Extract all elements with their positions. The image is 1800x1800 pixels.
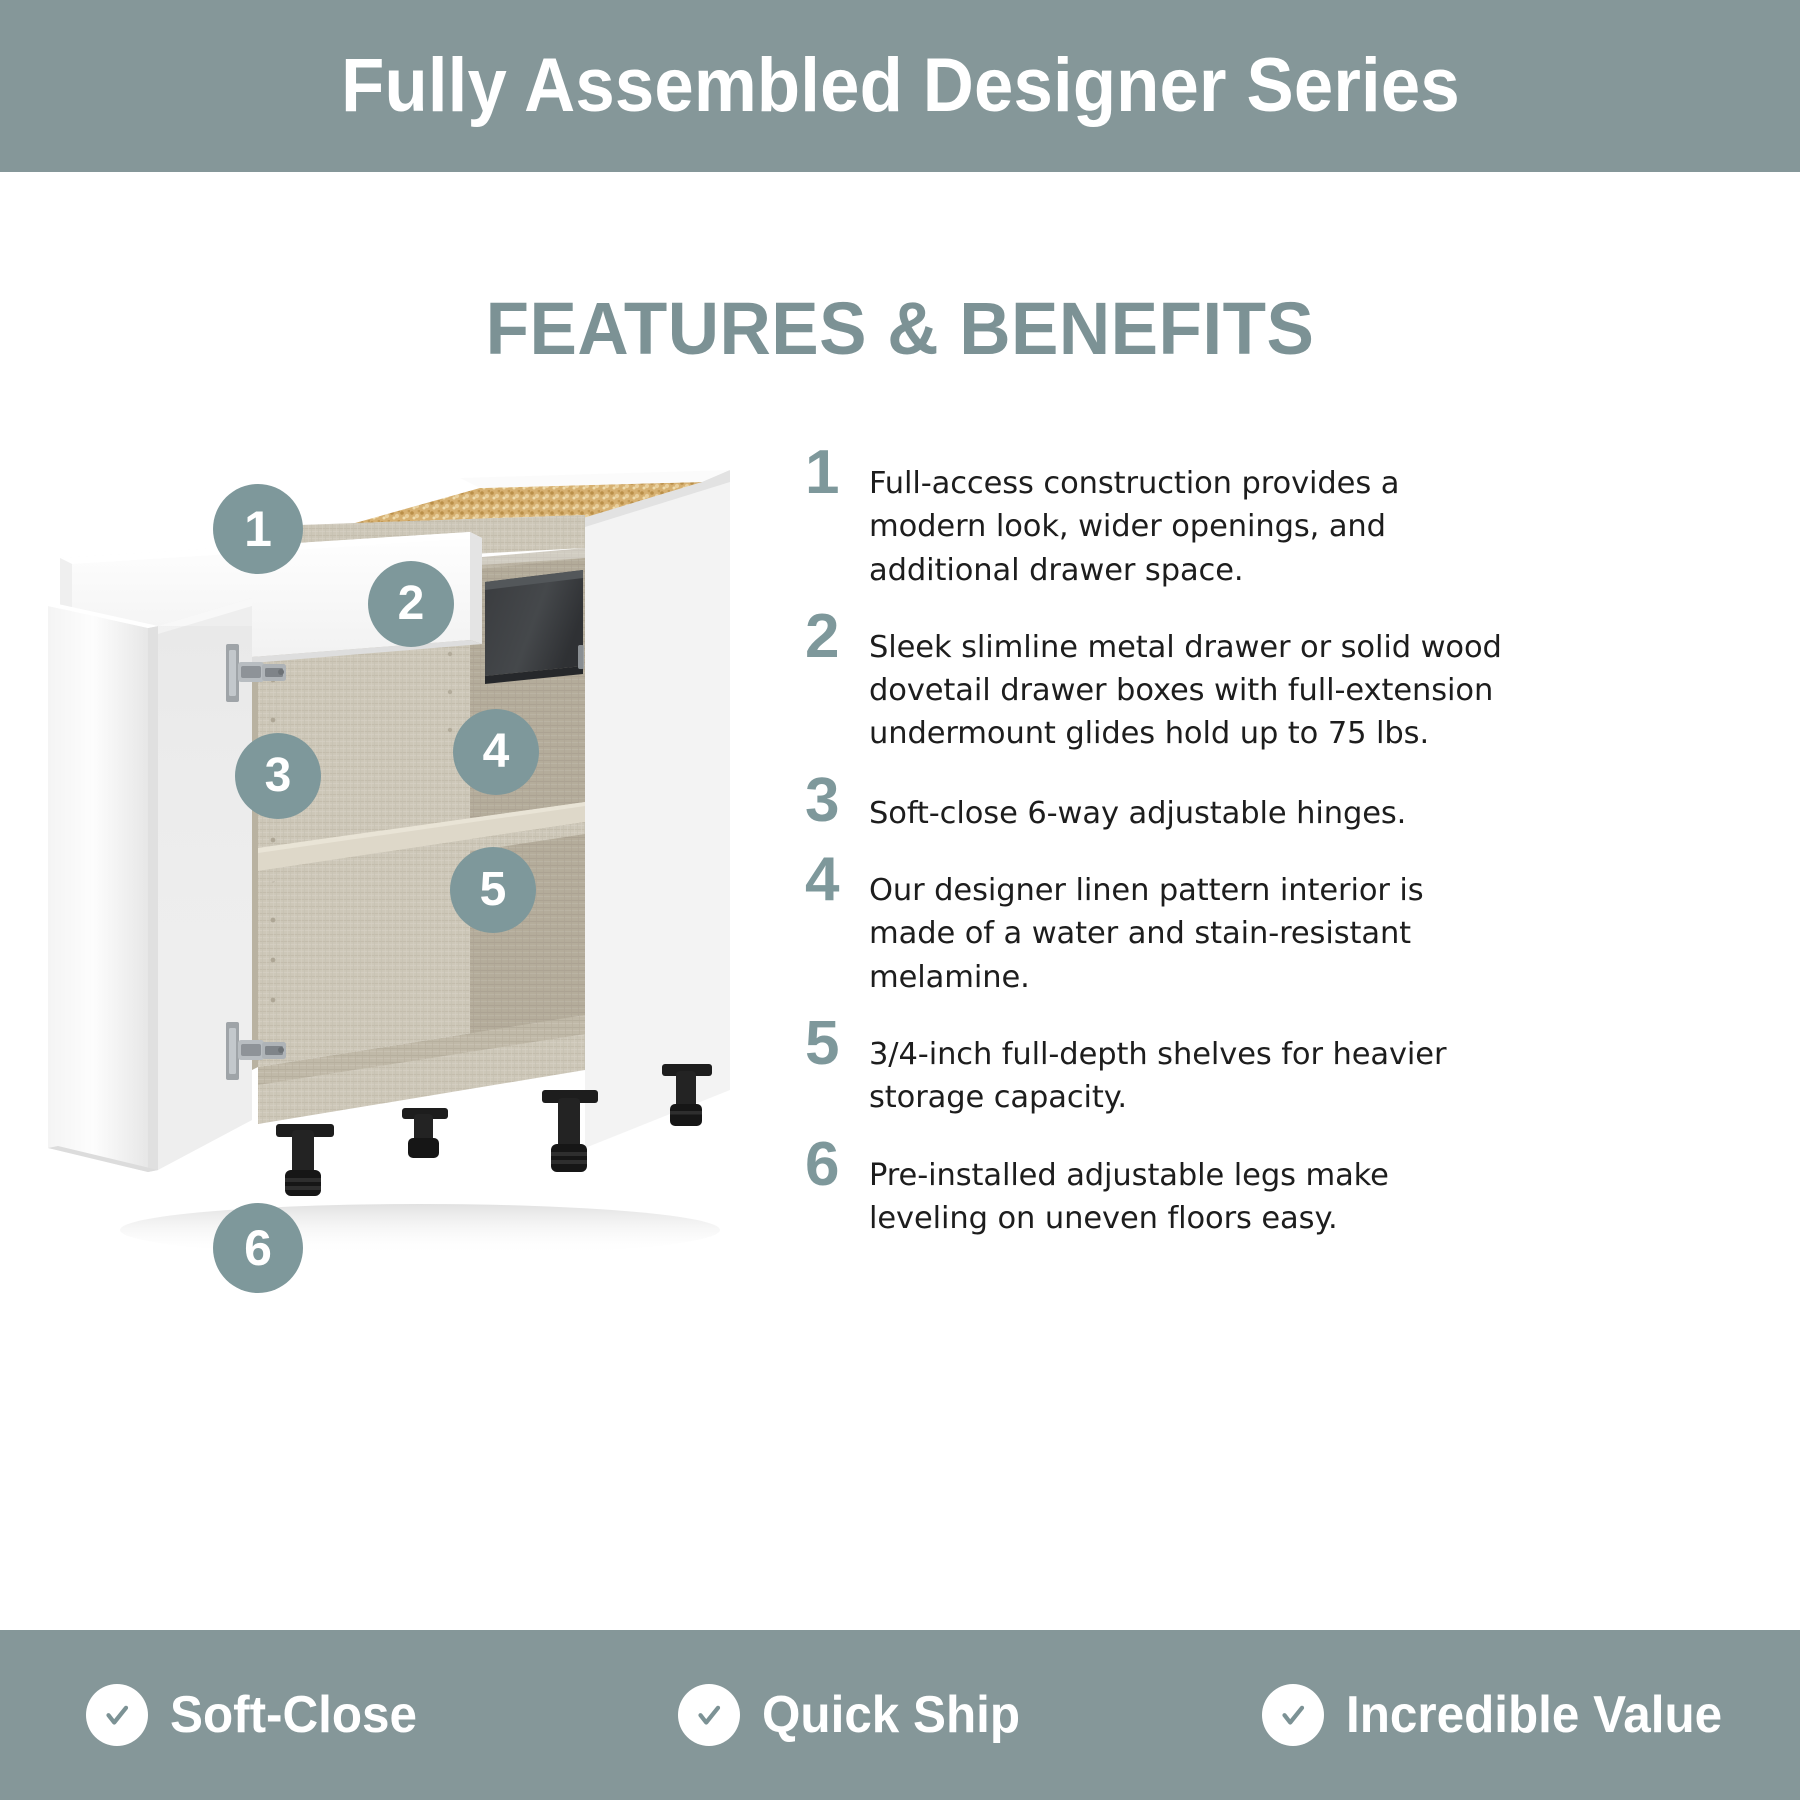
- feature-text-5: 3/4-inch full-depth shelves for heavier …: [869, 1013, 1505, 1120]
- main-content: 1 2 3 4 5 6 1 Full-access construction p…: [0, 400, 1800, 1600]
- feature-text-6: Pre-installed adjustable legs make level…: [869, 1134, 1505, 1241]
- callout-badge-5: 5: [450, 847, 536, 933]
- footer-bar: Soft-Close Quick Ship Incredible Value: [0, 1630, 1800, 1800]
- callout-badge-1: 1: [213, 484, 303, 574]
- callout-badge-2: 2: [368, 561, 454, 647]
- check-circle-icon: [678, 1684, 740, 1746]
- feature-number-2: 2: [805, 606, 869, 665]
- feature-item-3: 3 Soft-close 6-way adjustable hinges.: [805, 770, 1505, 835]
- footer-badge-quick-ship: Quick Ship: [678, 1684, 1034, 1746]
- footer-label-soft-close: Soft-Close: [170, 1689, 417, 1741]
- check-circle-icon: [86, 1684, 148, 1746]
- callout-badge-4: 4: [453, 709, 539, 795]
- callout-badge-3: 3: [235, 733, 321, 819]
- footer-label-quick-ship: Quick Ship: [762, 1689, 1020, 1741]
- feature-number-5: 5: [805, 1013, 869, 1072]
- footer-badge-incredible-value: Incredible Value: [1262, 1684, 1742, 1746]
- check-circle-icon: [1262, 1684, 1324, 1746]
- feature-text-2: Sleek slimline metal drawer or solid woo…: [869, 606, 1505, 756]
- feature-item-2: 2 Sleek slimline metal drawer or solid w…: [805, 606, 1505, 756]
- feature-text-3: Soft-close 6-way adjustable hinges.: [869, 770, 1505, 835]
- feature-number-1: 1: [805, 442, 869, 501]
- feature-item-6: 6 Pre-installed adjustable legs make lev…: [805, 1134, 1505, 1241]
- callout-badge-6: 6: [213, 1203, 303, 1293]
- feature-number-6: 6: [805, 1134, 869, 1193]
- features-list: 1 Full-access construction provides a mo…: [805, 442, 1505, 1254]
- feature-text-4: Our designer linen pattern interior is m…: [869, 849, 1505, 999]
- section-heading: FEATURES & BENEFITS: [36, 292, 1764, 366]
- footer-label-incredible-value: Incredible Value: [1346, 1689, 1722, 1741]
- feature-number-4: 4: [805, 849, 869, 908]
- header-bar: Fully Assembled Designer Series: [0, 0, 1800, 172]
- feature-item-4: 4 Our designer linen pattern interior is…: [805, 849, 1505, 999]
- product-illustration: 1 2 3 4 5 6: [30, 430, 820, 1310]
- page-title: Fully Assembled Designer Series: [341, 48, 1460, 124]
- footer-badge-soft-close: Soft-Close: [86, 1684, 430, 1746]
- feature-item-1: 1 Full-access construction provides a mo…: [805, 442, 1505, 592]
- feature-text-1: Full-access construction provides a mode…: [869, 442, 1505, 592]
- feature-number-3: 3: [805, 770, 869, 829]
- feature-item-5: 5 3/4-inch full-depth shelves for heavie…: [805, 1013, 1505, 1120]
